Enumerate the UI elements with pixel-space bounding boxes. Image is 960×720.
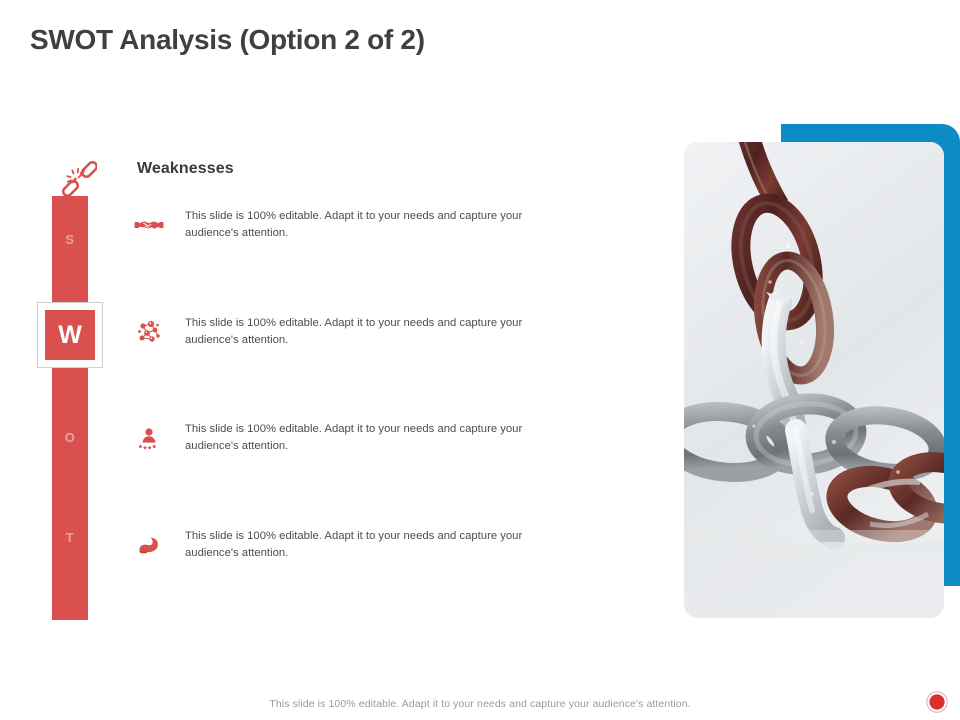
handshake-icon xyxy=(134,210,164,240)
list-item-text: This slide is 100% editable. Adapt it to… xyxy=(185,315,549,349)
swot-active-letter: W xyxy=(58,323,82,348)
broken-chain-link-icon xyxy=(57,157,97,197)
list-item: This slide is 100% editable. Adapt it to… xyxy=(134,421,554,455)
list-item: This slide is 100% editable. Adapt it to… xyxy=(134,208,554,242)
footer-note: This slide is 100% editable. Adapt it to… xyxy=(0,698,960,710)
list-item: This slide is 100% editable. Adapt it to… xyxy=(134,528,554,562)
swot-rail-letter-t[interactable]: T xyxy=(52,530,88,545)
flexed-bicep-icon xyxy=(134,530,164,560)
section-heading: Weaknesses xyxy=(137,160,234,178)
swot-rail-letter-o[interactable]: O xyxy=(52,430,88,445)
list-item: This slide is 100% editable. Adapt it to… xyxy=(134,315,554,349)
swot-active-tile: W xyxy=(45,310,95,360)
list-item-text: This slide is 100% editable. Adapt it to… xyxy=(185,421,549,455)
red-circle-badge xyxy=(926,691,948,713)
page-title: SWOT Analysis (Option 2 of 2) xyxy=(30,24,425,56)
swot-rail-letter-w-active[interactable]: W xyxy=(37,302,103,368)
chain-photo-panel xyxy=(684,142,944,618)
swot-rail-letter-s[interactable]: S xyxy=(52,232,88,247)
list-item-text: This slide is 100% editable. Adapt it to… xyxy=(185,528,549,562)
person-rating-stars-icon xyxy=(134,423,164,453)
list-item-text: This slide is 100% editable. Adapt it to… xyxy=(185,208,549,242)
broken-chain-links-photo xyxy=(684,142,944,618)
molecule-network-icon xyxy=(134,317,164,347)
swot-rail: S O T xyxy=(52,196,88,620)
